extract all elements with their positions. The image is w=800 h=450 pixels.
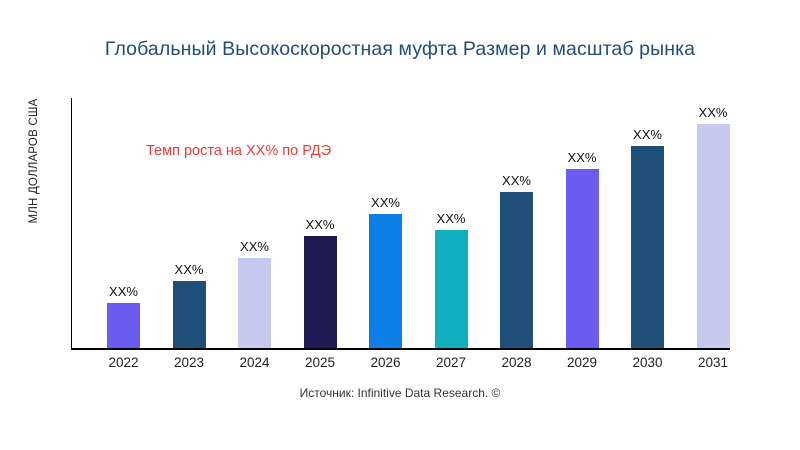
bars-layer: XX%XX%XX%XX%XX%XX%XX%XX%XX%XX% (0, 0, 800, 450)
bar-value-label-2031: XX% (699, 105, 728, 120)
bar-2029[interactable] (566, 169, 599, 348)
bar-2026[interactable] (369, 214, 402, 348)
bar-2025[interactable] (304, 236, 337, 348)
x-tick-2027: 2027 (421, 355, 481, 370)
bar-value-label-2028: XX% (502, 173, 531, 188)
x-tick-2031: 2031 (683, 355, 743, 370)
bar-value-label-2024: XX% (240, 239, 269, 254)
x-tick-2026: 2026 (356, 355, 416, 370)
x-tick-2024: 2024 (225, 355, 285, 370)
chart-container: Глобальный Высокоскоростная муфта Размер… (0, 0, 800, 450)
bar-value-label-2023: XX% (175, 262, 204, 277)
bar-value-label-2029: XX% (568, 150, 597, 165)
x-tick-2030: 2030 (618, 355, 678, 370)
bar-2028[interactable] (500, 192, 533, 348)
bar-value-label-2026: XX% (371, 195, 400, 210)
source-caption: Источник: Infinitive Data Research. © (0, 386, 800, 400)
bar-2030[interactable] (631, 146, 664, 348)
bar-2022[interactable] (107, 303, 140, 348)
bar-value-label-2025: XX% (306, 217, 335, 232)
x-tick-2029: 2029 (552, 355, 612, 370)
bar-2023[interactable] (173, 281, 206, 348)
x-tick-2025: 2025 (290, 355, 350, 370)
bar-value-label-2030: XX% (633, 127, 662, 142)
bar-2024[interactable] (238, 258, 271, 348)
bar-value-label-2027: XX% (437, 211, 466, 226)
bar-value-label-2022: XX% (109, 284, 138, 299)
x-tick-2023: 2023 (159, 355, 219, 370)
x-tick-2022: 2022 (94, 355, 154, 370)
bar-2031[interactable] (697, 124, 730, 348)
x-axis-tick-labels: 2022202320242025202620272028202920302031 (0, 355, 800, 377)
bar-2027[interactable] (435, 230, 468, 348)
x-tick-2028: 2028 (487, 355, 547, 370)
